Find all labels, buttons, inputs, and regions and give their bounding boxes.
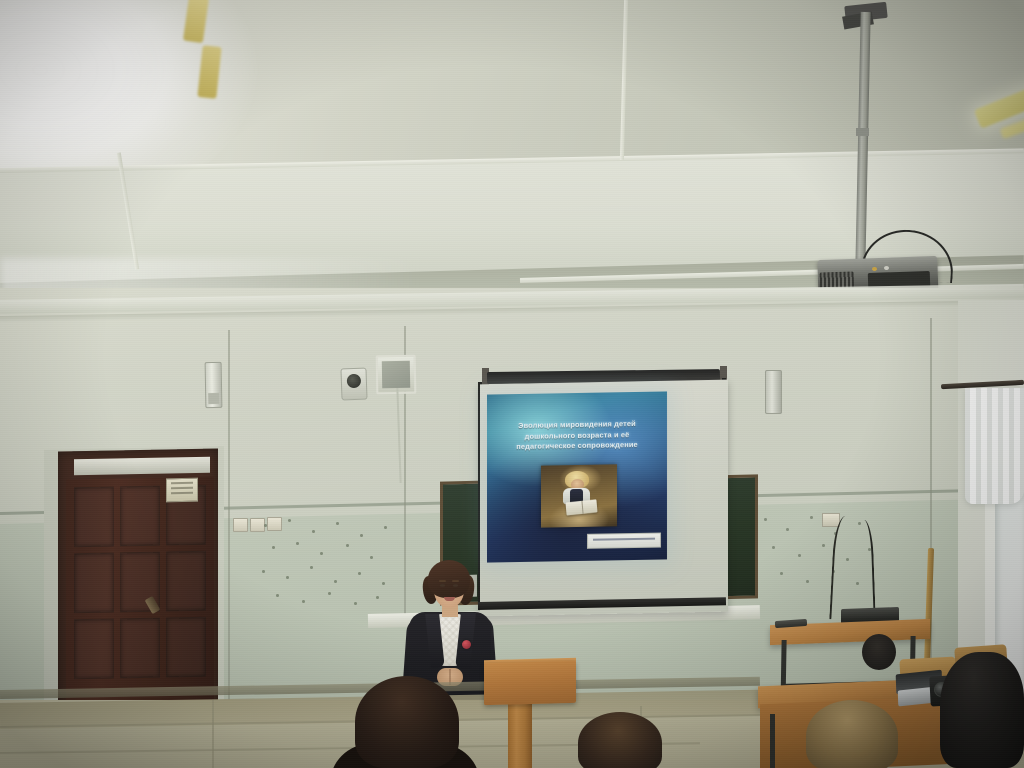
audience-head	[806, 700, 898, 768]
audience-head	[862, 634, 896, 670]
wall-sensor-icon	[340, 368, 367, 401]
audience-head	[578, 712, 662, 768]
book-icon	[565, 499, 597, 515]
slide-title: Эволюция мировидения детей дошкольного в…	[495, 419, 659, 453]
door-panel	[166, 617, 206, 678]
wall-seam	[228, 330, 230, 700]
wall-speaker	[205, 362, 223, 408]
projector-pole-joint	[856, 128, 869, 136]
door-panel	[74, 486, 114, 547]
power-outlet[interactable]	[233, 518, 248, 532]
projector-power-led-icon	[872, 267, 877, 271]
presenter-eyebrow	[452, 580, 459, 582]
podium-stem	[508, 700, 532, 768]
presenter-hair	[428, 560, 470, 598]
classroom-photo: Эволюция мировидения детей дошкольного в…	[0, 0, 1024, 768]
door-transom-window	[74, 457, 210, 476]
presenter-eye	[453, 584, 458, 587]
audience-head	[940, 652, 1024, 768]
door-panel	[74, 618, 114, 679]
door-panel	[74, 552, 114, 613]
audience-head	[355, 676, 459, 768]
floor-tile-seam	[212, 700, 214, 768]
presenter-eye	[440, 584, 445, 587]
desk-leg	[770, 714, 775, 768]
door-panel	[120, 618, 160, 679]
slide-photo-child-reading	[541, 464, 617, 527]
presenter-brooch	[462, 640, 471, 649]
projected-slide: Эволюция мировидения детей дошкольного в…	[487, 391, 667, 562]
projector-status-led-icon	[884, 266, 889, 270]
slide-title-line-1: Эволюция мировидения детей	[518, 419, 636, 430]
door-sign	[166, 478, 198, 503]
wall-pinholes	[258, 516, 398, 606]
door-panel	[166, 551, 206, 612]
door[interactable]	[66, 477, 214, 716]
slide-title-line-3: педагогическое сопровождение	[516, 440, 638, 451]
wall-speaker	[765, 370, 782, 414]
slide-title-line-2: дошкольного возраста и её	[525, 430, 630, 441]
window-curtain[interactable]	[965, 388, 1024, 504]
presenter-eyebrow	[439, 580, 446, 582]
door-panel	[120, 486, 160, 547]
podium[interactable]	[484, 661, 576, 705]
slide-caption-box	[587, 533, 661, 549]
